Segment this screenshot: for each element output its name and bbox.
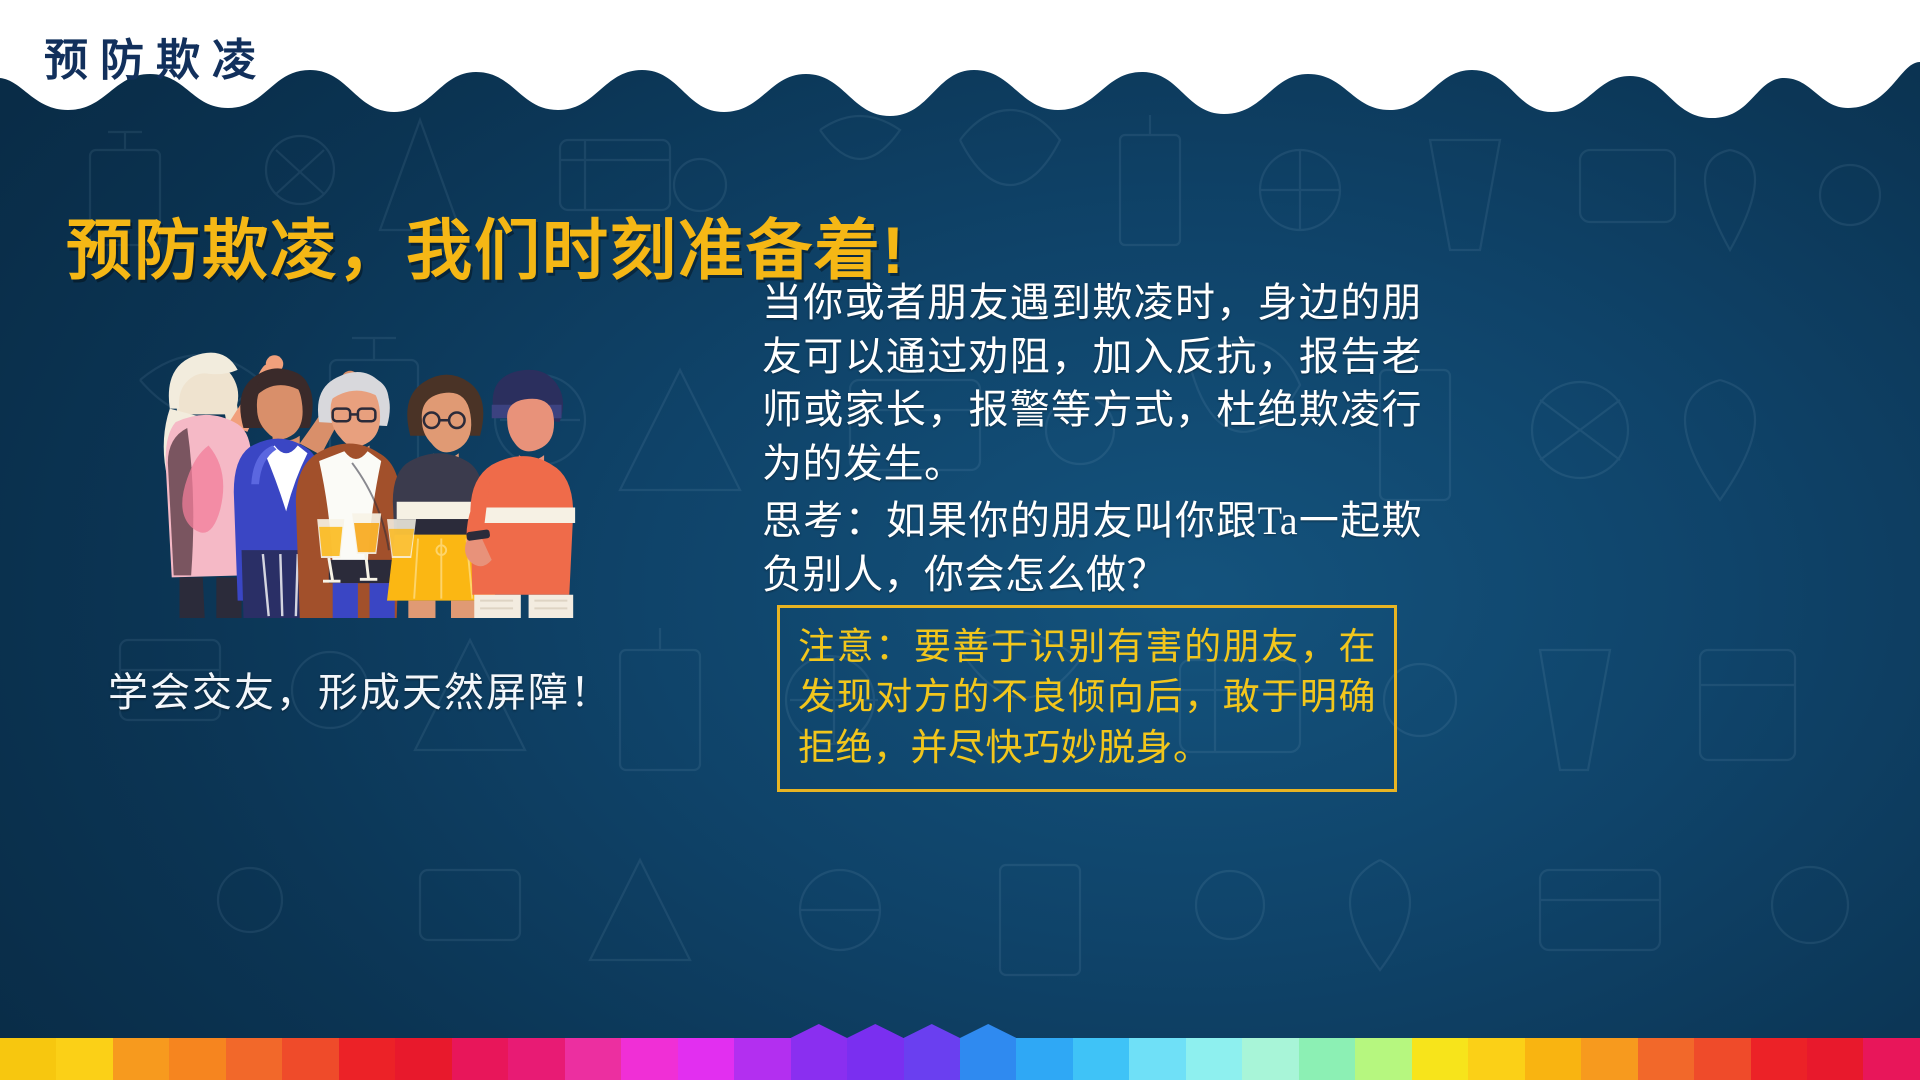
pencil xyxy=(791,1038,847,1080)
pencil xyxy=(56,1038,112,1080)
pencil xyxy=(1581,1038,1637,1080)
pencil xyxy=(1412,1038,1468,1080)
pencil xyxy=(1638,1038,1694,1080)
pencil xyxy=(960,1038,1016,1080)
pencil xyxy=(1694,1038,1750,1080)
pencil xyxy=(1468,1038,1524,1080)
friends-group-illustration xyxy=(120,300,590,620)
pencil-tip xyxy=(791,1024,847,1038)
pencil xyxy=(847,1038,903,1080)
pencil xyxy=(734,1038,790,1080)
body-paragraph-advice: 当你或者朋友遇到欺凌时，身边的朋友可以通过劝阻，加入反抗，报告老师或家长，报警等… xyxy=(762,276,1422,490)
body-paragraph-question: 思考：如果你的朋友叫你跟Ta一起欺负别人，你会怎么做？ xyxy=(762,494,1422,601)
pencil xyxy=(508,1038,564,1080)
pencil xyxy=(621,1038,677,1080)
pencil xyxy=(395,1038,451,1080)
pencil xyxy=(1525,1038,1581,1080)
pencil xyxy=(1751,1038,1807,1080)
pencil xyxy=(1129,1038,1185,1080)
pencil xyxy=(113,1038,169,1080)
pencil xyxy=(1863,1038,1919,1080)
pencil-tip xyxy=(904,1024,960,1038)
pencil xyxy=(169,1038,225,1080)
pencil xyxy=(1355,1038,1411,1080)
slide-root: 预防欺凌 预防欺凌，我们时刻准备着! xyxy=(0,0,1920,1080)
pencil xyxy=(452,1038,508,1080)
pencil xyxy=(1186,1038,1242,1080)
pencil xyxy=(282,1038,338,1080)
pencil xyxy=(1242,1038,1298,1080)
pencil-tip xyxy=(847,1024,903,1038)
pencil xyxy=(565,1038,621,1080)
note-box: 注意：要善于识别有害的朋友，在发现对方的不良倾向后，敢于明确拒绝，并尽快巧妙脱身… xyxy=(777,605,1397,792)
illustration-caption: 学会交友，形成天然屏障！ xyxy=(90,660,630,718)
pencil xyxy=(1016,1038,1072,1080)
pencil xyxy=(678,1038,734,1080)
body-text-column: 当你或者朋友遇到欺凌时，身边的朋友可以通过劝阻，加入反抗，报告老师或家长，报警等… xyxy=(762,276,1422,602)
pencil xyxy=(1073,1038,1129,1080)
note-box-text: 注意：要善于识别有害的朋友，在发现对方的不良倾向后，敢于明确拒绝，并尽快巧妙脱身… xyxy=(798,622,1376,773)
pencil xyxy=(0,1038,56,1080)
cloud-band: 预防欺凌 xyxy=(0,0,1920,132)
header-title: 预防欺凌 xyxy=(44,24,268,88)
pencil xyxy=(1807,1038,1863,1080)
pencil xyxy=(226,1038,282,1080)
pencil-tip xyxy=(960,1024,1016,1038)
pencil xyxy=(1299,1038,1355,1080)
pencil xyxy=(339,1038,395,1080)
pencil-strip xyxy=(0,1038,1920,1080)
pencil xyxy=(904,1038,960,1080)
